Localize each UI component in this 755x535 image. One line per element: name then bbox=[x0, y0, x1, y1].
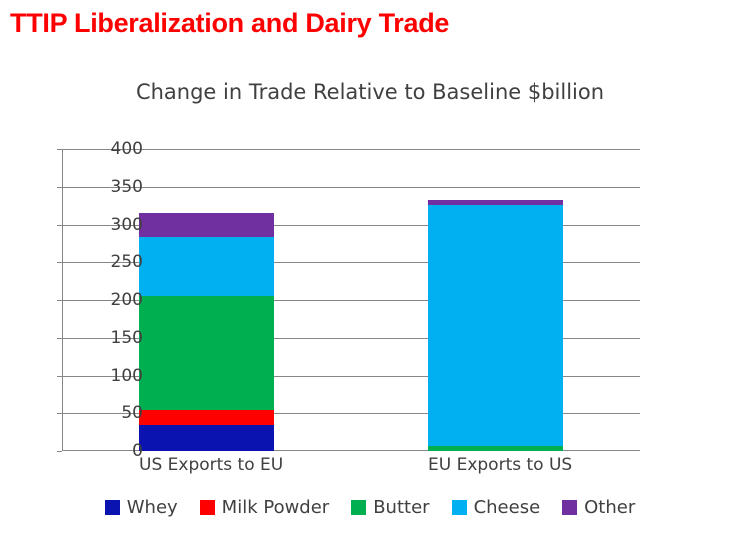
legend-swatch-icon bbox=[105, 500, 120, 515]
y-axis-tick bbox=[57, 300, 62, 301]
bar-segment-butter[interactable] bbox=[428, 446, 563, 451]
legend-item-other[interactable]: Other bbox=[562, 497, 635, 518]
bar-segment-butter[interactable] bbox=[139, 296, 274, 410]
page-title: TTIP Liberalization and Dairy Trade bbox=[10, 8, 449, 39]
legend-swatch-icon bbox=[562, 500, 577, 515]
legend-label: Cheese bbox=[474, 497, 541, 518]
y-axis-tick bbox=[57, 451, 62, 452]
y-axis-tick bbox=[57, 376, 62, 377]
bar-segment-cheese[interactable] bbox=[428, 205, 563, 447]
stacked-bar-chart: Change in Trade Relative to Baseline $bi… bbox=[0, 62, 755, 535]
y-axis-tick bbox=[57, 149, 62, 150]
bar-group: EU Exports to US bbox=[428, 149, 563, 451]
legend-item-butter[interactable]: Butter bbox=[351, 497, 429, 518]
bar-segment-cheese[interactable] bbox=[139, 237, 274, 296]
legend-label: Milk Powder bbox=[222, 497, 330, 518]
chart-legend: WheyMilk PowderButterCheeseOther bbox=[0, 497, 740, 518]
y-axis-tick-label: 50 bbox=[89, 403, 143, 423]
stacked-bar[interactable] bbox=[139, 213, 274, 451]
bar-segment-whey[interactable] bbox=[139, 425, 274, 451]
x-axis-category-label: EU Exports to US bbox=[428, 455, 563, 475]
y-axis-tick-label: 0 bbox=[89, 441, 143, 461]
chart-title: Change in Trade Relative to Baseline $bi… bbox=[0, 80, 740, 104]
legend-swatch-icon bbox=[351, 500, 366, 515]
bar-group: US Exports to EU bbox=[139, 149, 274, 451]
y-axis-tick-label: 200 bbox=[89, 290, 143, 310]
legend-swatch-icon bbox=[452, 500, 467, 515]
y-axis-tick-label: 150 bbox=[89, 328, 143, 348]
legend-label: Whey bbox=[127, 497, 178, 518]
y-axis-tick-label: 250 bbox=[89, 252, 143, 272]
y-axis-tick bbox=[57, 225, 62, 226]
slide-canvas: TTIP Liberalization and Dairy Trade Chan… bbox=[0, 0, 755, 535]
stacked-bar[interactable] bbox=[428, 200, 563, 451]
bar-segment-other[interactable] bbox=[139, 213, 274, 237]
y-axis-tick bbox=[57, 338, 62, 339]
legend-item-milk-powder[interactable]: Milk Powder bbox=[200, 497, 330, 518]
y-axis-tick-label: 300 bbox=[89, 215, 143, 235]
y-axis-tick-label: 350 bbox=[89, 177, 143, 197]
legend-swatch-icon bbox=[200, 500, 215, 515]
y-axis-tick bbox=[57, 187, 62, 188]
bar-segment-milk-powder[interactable] bbox=[139, 410, 274, 424]
y-axis-tick bbox=[57, 413, 62, 414]
legend-label: Butter bbox=[373, 497, 429, 518]
x-axis-category-label: US Exports to EU bbox=[139, 455, 274, 475]
y-axis-tick bbox=[57, 262, 62, 263]
plot-area: US Exports to EUEU Exports to US bbox=[62, 149, 640, 451]
y-axis-tick-label: 100 bbox=[89, 366, 143, 386]
y-axis-tick-label: 400 bbox=[89, 139, 143, 159]
legend-label: Other bbox=[584, 497, 635, 518]
legend-item-whey[interactable]: Whey bbox=[105, 497, 178, 518]
legend-item-cheese[interactable]: Cheese bbox=[452, 497, 541, 518]
bar-segment-other[interactable] bbox=[428, 200, 563, 205]
